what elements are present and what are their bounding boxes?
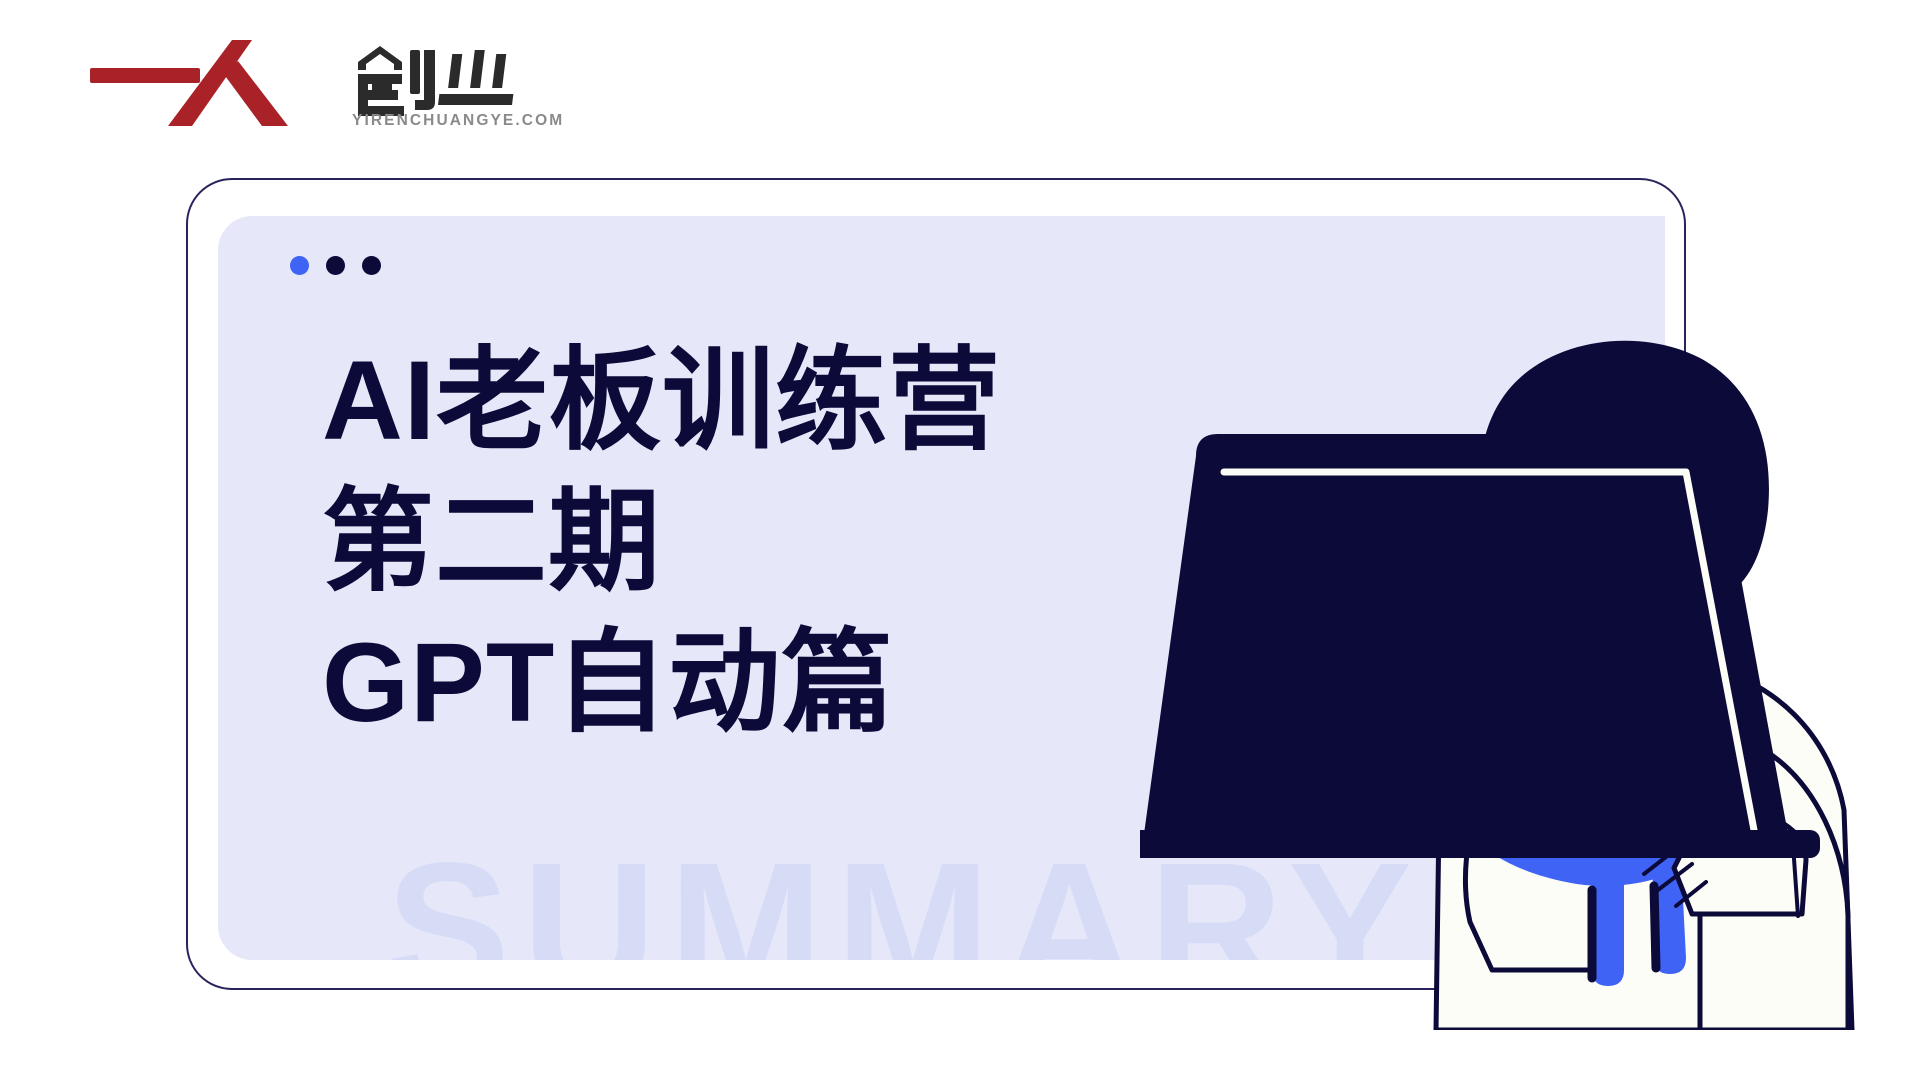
brand-url: YIRENCHUANGYE.COM: [352, 112, 564, 130]
page-title: AI老板训练营 第二期 GPT自动篇: [322, 330, 1262, 753]
brand-logo[interactable]: YIRENCHUANGYE.COM: [80, 28, 480, 138]
window-dot-navy-2-icon[interactable]: [362, 256, 381, 275]
title-line-3: GPT自动篇: [322, 612, 1262, 753]
laptop-icon: [1140, 434, 1820, 858]
chuangye-wordmark-icon: [350, 40, 530, 120]
person-working-illustration: [1140, 330, 1860, 1030]
title-line-2: 第二期: [322, 471, 1262, 612]
window-dot-navy-1-icon[interactable]: [326, 256, 345, 275]
title-line-1: AI老板训练营: [322, 330, 1262, 471]
poster-canvas: YIRENCHUANGYE.COM SUMMARY AI老板训练营 第二期 GP…: [0, 0, 1920, 1080]
window-dots: [290, 256, 381, 275]
yiren-logo-mark-icon: [80, 28, 340, 128]
window-dot-blue-icon[interactable]: [290, 256, 309, 275]
